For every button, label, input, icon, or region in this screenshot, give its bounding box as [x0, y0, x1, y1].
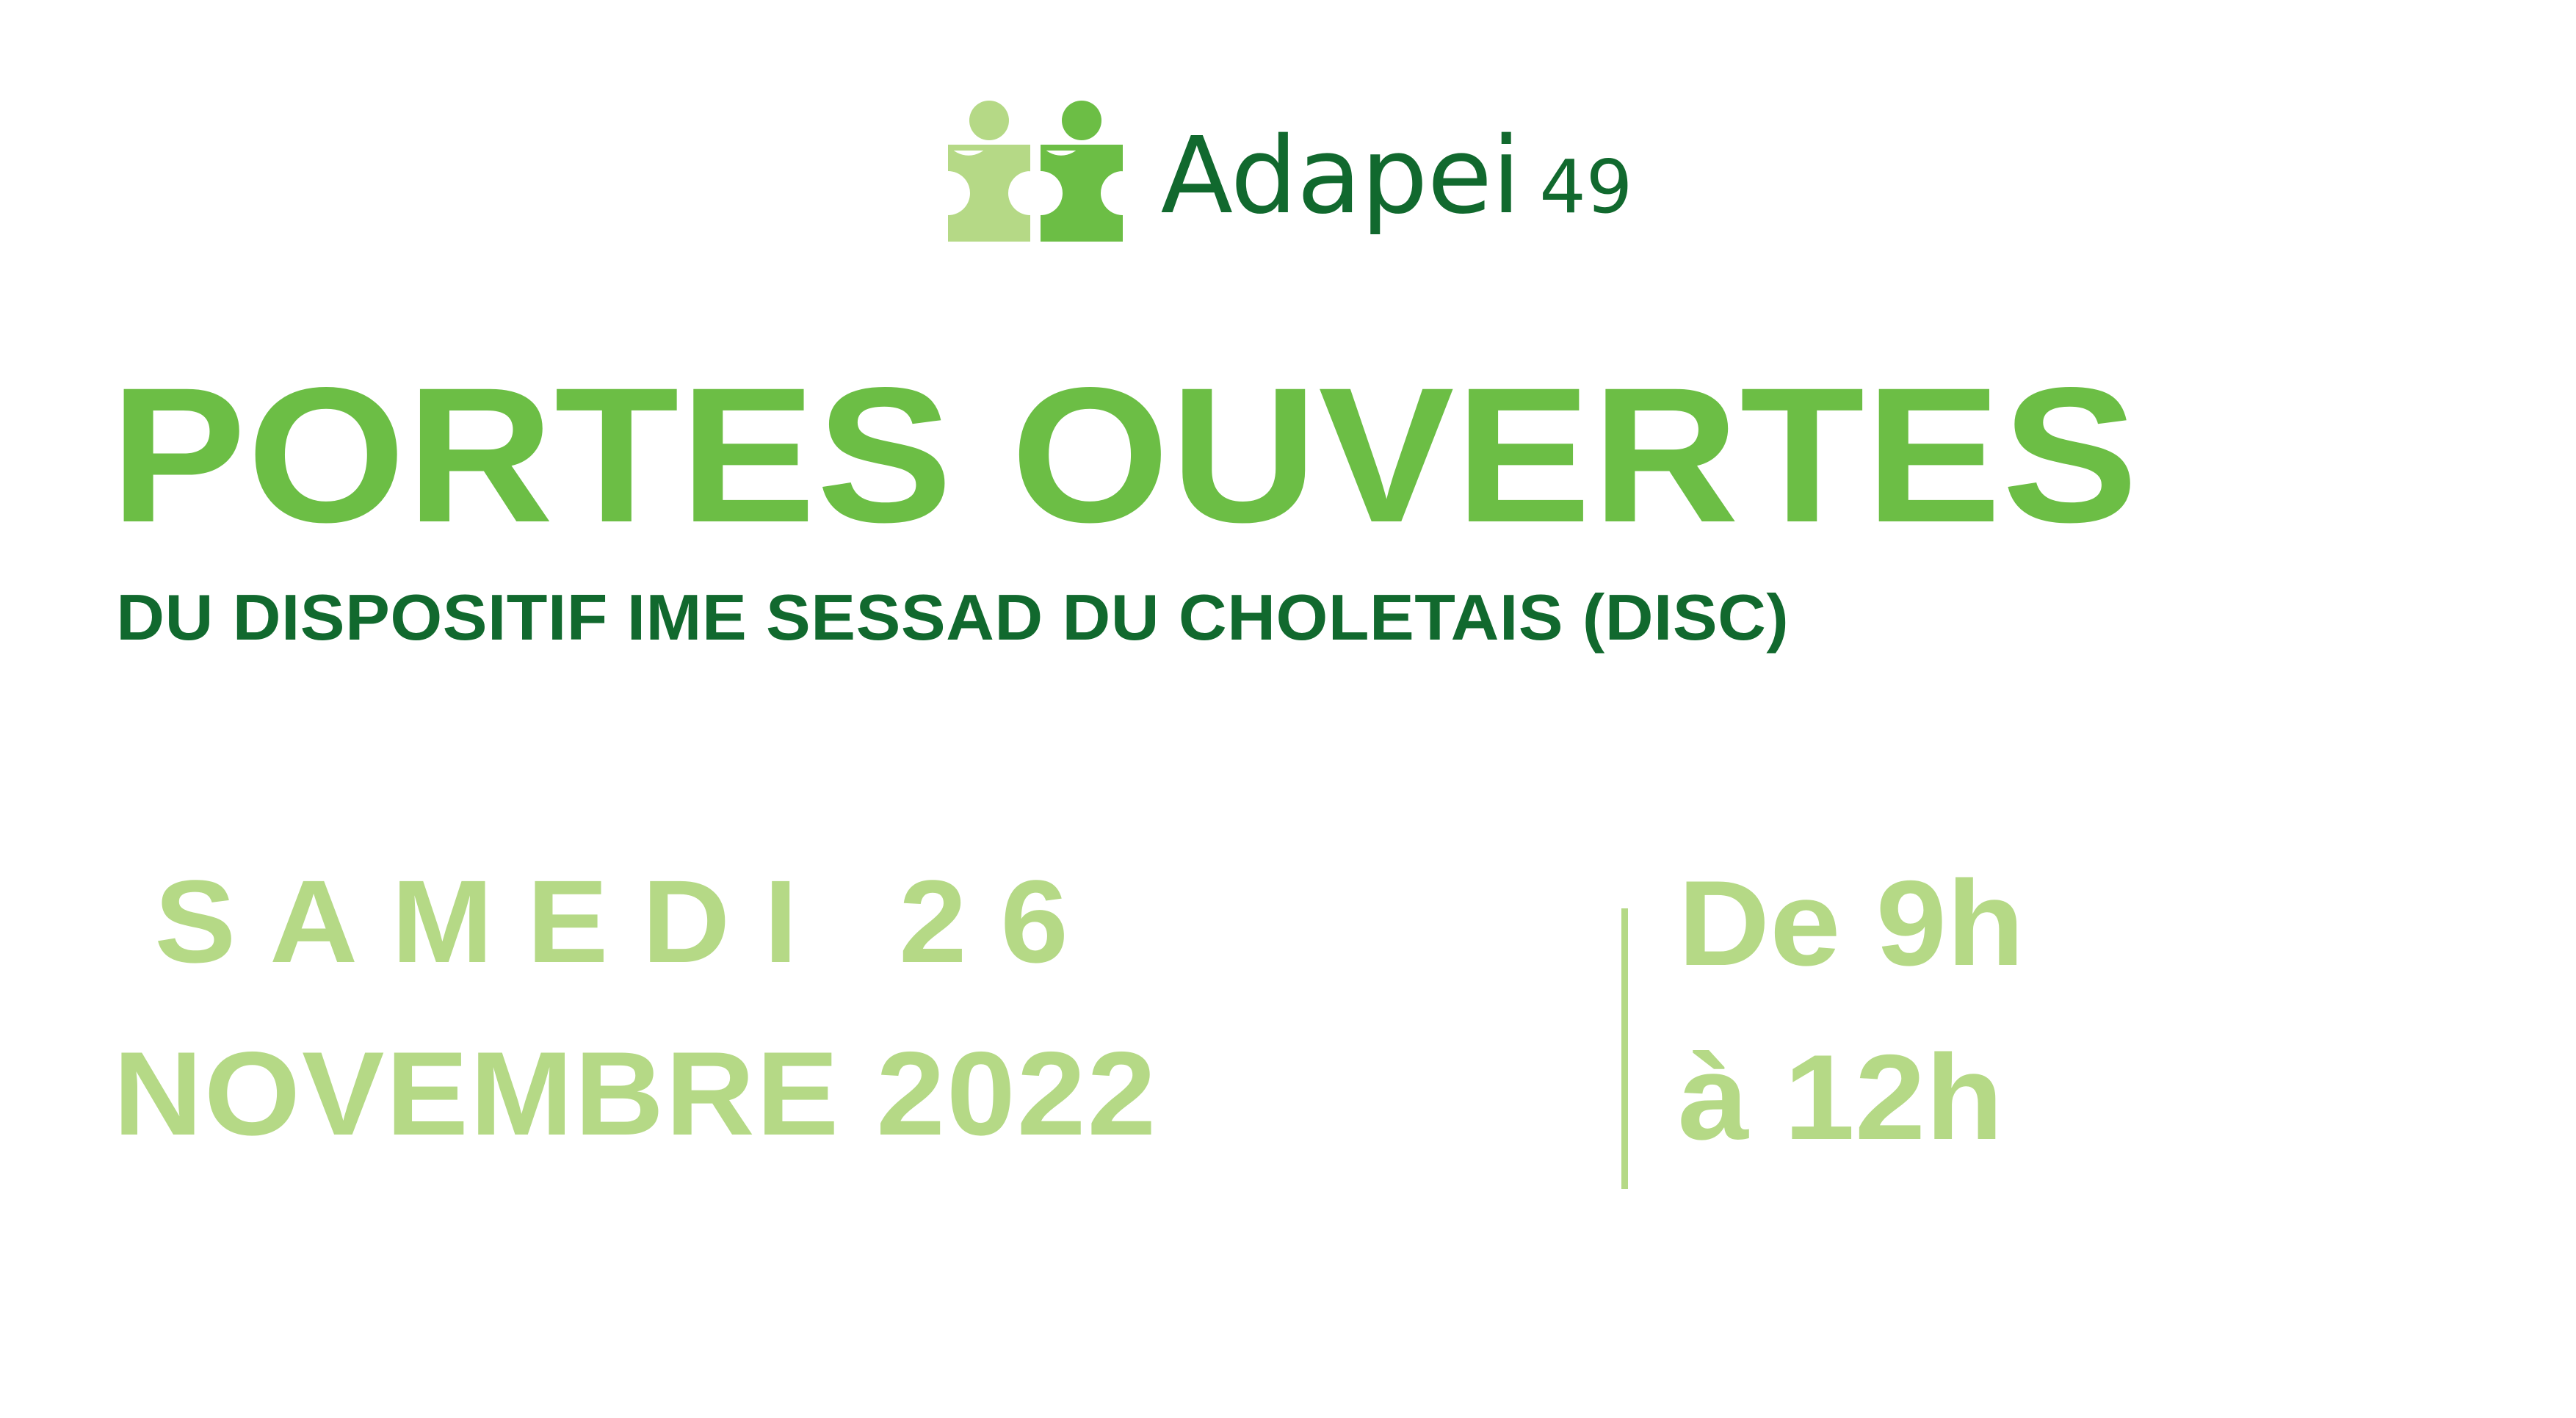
adapei-two-people-icon [944, 101, 1127, 242]
event-details-block: SAMEDI 26 NOVEMBRE 2022 De 9h à 12h [110, 863, 2489, 1189]
logo-figure-right [1041, 101, 1123, 242]
logo-wordmark: Adapei 49 [1161, 123, 1633, 228]
logo-body-right [1041, 145, 1123, 242]
event-date-line-1: SAMEDI 26 [110, 863, 1638, 1035]
logo-number: 49 [1539, 151, 1632, 224]
event-date-line-2: NOVEMBRE 2022 [110, 1035, 1638, 1154]
logo-name: Adapei [1161, 123, 1521, 228]
logo-body-right-top [1041, 145, 1123, 151]
event-time-line-1: De 9h [1678, 863, 2025, 1037]
logo-body-left-top [948, 145, 1030, 151]
logo-head-right [1062, 101, 1101, 140]
page-subtitle: DU DISPOSITIF IME SESSAD DU CHOLETAIS (D… [110, 550, 2572, 650]
logo-block: Adapei 49 [0, 94, 2576, 248]
headline-block: PORTES OUVERTES DU DISPOSITIF IME SESSAD… [110, 361, 2489, 650]
event-time: De 9h à 12h [1628, 863, 2008, 1158]
event-date: SAMEDI 26 NOVEMBRE 2022 [110, 863, 1579, 1154]
logo-figure-left [948, 101, 1030, 242]
page-title: PORTES OUVERTES [110, 361, 2576, 550]
logo-body-left [948, 145, 1030, 242]
event-time-line-2: à 12h [1678, 1037, 2025, 1158]
logo-head-left [969, 101, 1009, 140]
